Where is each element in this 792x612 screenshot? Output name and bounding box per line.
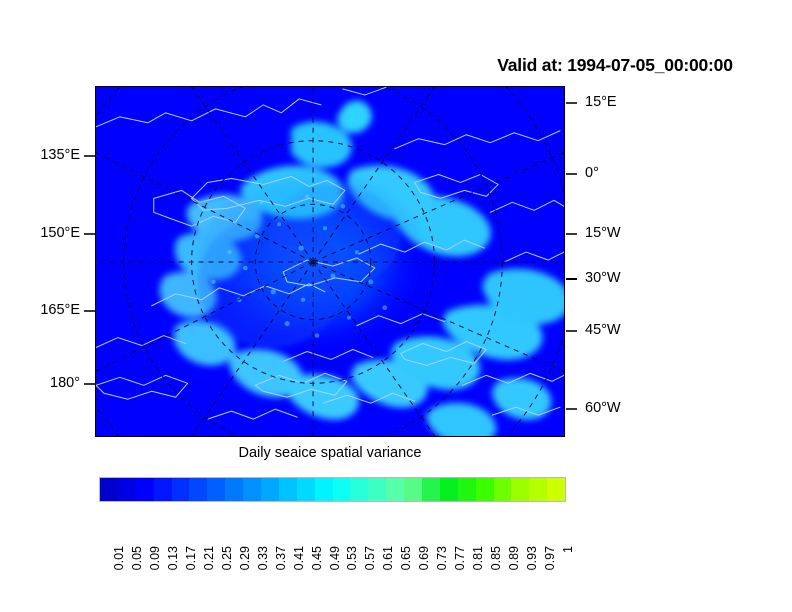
left-tick-0 [84, 155, 95, 157]
colorbar-cell [207, 478, 225, 501]
colorbar-tick-label: 0.25 [221, 546, 234, 570]
colorbar-cell [458, 478, 476, 501]
colorbar-cell [350, 478, 368, 501]
colorbar-cell [100, 478, 118, 501]
colorbar-tick-label: 0.77 [454, 546, 467, 570]
colorbar-tick-labels: 0.010.050.090.130.170.210.250.290.330.37… [99, 504, 566, 564]
colorbar-cell [333, 478, 351, 501]
colorbar-cell [136, 478, 154, 501]
colorbar-cell [189, 478, 207, 501]
colorbar-cell [440, 478, 458, 501]
right-axis-label-3: 30°W [585, 271, 685, 286]
colorbar-tick-label: 0.37 [275, 546, 288, 570]
colorbar-tick-label: 0.01 [113, 546, 126, 570]
colorbar-tick-label: 0.57 [364, 546, 377, 570]
colorbar-gradient [99, 477, 566, 502]
colorbar-tick-label: 0.65 [400, 546, 413, 570]
right-tick-5 [566, 408, 577, 410]
colorbar-tick-label: 0.69 [418, 546, 431, 570]
colorbar-tick-label: 0.33 [257, 546, 270, 570]
colorbar [99, 477, 566, 502]
colorbar-tick-label: 0.85 [490, 546, 503, 570]
left-axis-label-2: 165°E [0, 303, 80, 318]
map-panel [95, 86, 565, 437]
right-axis-label-2: 15°W [585, 226, 685, 241]
colorbar-cell [225, 478, 243, 501]
colorbar-tick-label: 0.21 [203, 546, 216, 570]
figure-root: Valid at: 1994-07-05_00:00:00 [0, 0, 792, 612]
colorbar-cell [154, 478, 172, 501]
colorbar-cell [315, 478, 333, 501]
left-axis-label-0: 135°E [0, 148, 80, 163]
colorbar-tick-label: 0.89 [508, 546, 521, 570]
colorbar-cell [494, 478, 512, 501]
right-tick-0 [566, 102, 577, 104]
right-tick-2 [566, 233, 577, 235]
colorbar-cell [118, 478, 136, 501]
colorbar-cell [261, 478, 279, 501]
colorbar-cell [243, 478, 261, 501]
colorbar-cell [297, 478, 315, 501]
colorbar-cell [172, 478, 190, 501]
colorbar-tick-label: 0.13 [167, 546, 180, 570]
left-axis-label-3: 180° [0, 376, 80, 391]
right-tick-1 [566, 173, 577, 175]
right-tick-4 [566, 330, 577, 332]
colorbar-tick-label: 0.61 [382, 546, 395, 570]
left-axis-label-1: 150°E [0, 226, 80, 241]
figure-title: Valid at: 1994-07-05_00:00:00 [455, 55, 775, 76]
colorbar-tick-label: 0.05 [131, 546, 144, 570]
left-tick-3 [84, 383, 95, 385]
colorbar-tick-label: 1 [562, 546, 575, 553]
colorbar-cell [404, 478, 422, 501]
colorbar-caption: Daily seaice spatial variance [95, 445, 565, 461]
colorbar-tick-label: 0.53 [346, 546, 359, 570]
colorbar-cell [511, 478, 529, 501]
colorbar-tick-label: 0.17 [185, 546, 198, 570]
right-axis-label-5: 60°W [585, 401, 685, 416]
colorbar-tick-label: 0.45 [311, 546, 324, 570]
right-axis-label-4: 45°W [585, 323, 685, 338]
colorbar-tick-label: 0.49 [329, 546, 342, 570]
colorbar-cell [422, 478, 440, 501]
colorbar-cell [529, 478, 547, 501]
colorbar-cell [368, 478, 386, 501]
colorbar-tick-label: 0.29 [239, 546, 252, 570]
colorbar-tick-label: 0.97 [544, 546, 557, 570]
map-canvas [96, 87, 564, 436]
colorbar-cell [386, 478, 404, 501]
colorbar-tick-label: 0.09 [149, 546, 162, 570]
colorbar-tick-label: 0.81 [472, 546, 485, 570]
colorbar-tick-label: 0.41 [293, 546, 306, 570]
left-tick-1 [84, 233, 95, 235]
colorbar-cell [476, 478, 494, 501]
colorbar-cell [279, 478, 297, 501]
right-axis-label-0: 15°E [585, 95, 685, 110]
right-tick-3 [566, 278, 577, 280]
colorbar-tick-label: 0.93 [526, 546, 539, 570]
colorbar-tick-label: 0.73 [436, 546, 449, 570]
right-axis-label-1: 0° [585, 166, 685, 181]
left-tick-2 [84, 310, 95, 312]
colorbar-cell [547, 478, 565, 501]
